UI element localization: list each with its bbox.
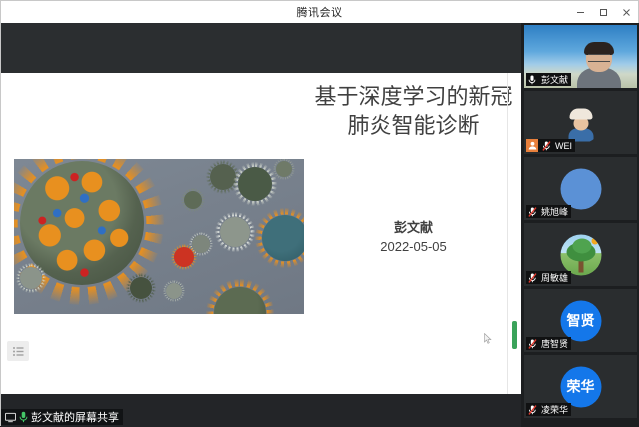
participant-name: 姚旭峰: [540, 205, 568, 218]
participant-name: 唐智贤: [540, 337, 568, 350]
window-title: 腾讯会议: [297, 4, 343, 20]
participant-namebar: 姚旭峰: [526, 205, 571, 218]
participant-name: WEI: [554, 141, 572, 151]
virus-particle: [210, 164, 236, 190]
slide-title-line-2: 肺炎智能诊断: [306, 112, 521, 141]
slideshow-menu-icon: [12, 346, 25, 357]
microphone-muted-icon: [526, 403, 538, 416]
presentation-slide[interactable]: 基于深度学习的新冠 肺炎智能诊断 彭文献 2022-05-05: [1, 73, 521, 394]
virus-particle: [130, 277, 152, 299]
microphone-muted-icon: [526, 271, 538, 284]
participant-namebar: 彭文献: [526, 73, 571, 86]
shared-screen-stage[interactable]: 基于深度学习的新冠 肺炎智能诊断 彭文献 2022-05-05: [1, 23, 521, 427]
virus-particle: [166, 283, 182, 299]
microphone-icon: [19, 411, 28, 423]
participant-tile-zhouminxiong[interactable]: 周敏雄: [524, 223, 637, 286]
window-controls: [569, 1, 638, 23]
avatar: [560, 234, 601, 275]
participant-name: 凌荣华: [540, 403, 568, 416]
participant-namebar: 周敏雄: [526, 271, 571, 284]
slide-title-line-1: 基于深度学习的新冠: [306, 83, 521, 112]
microphone-muted-icon: [526, 205, 538, 218]
virus-particle: [220, 217, 250, 247]
slide-author: 彭文献: [306, 217, 521, 236]
participant-tile-tangzhixian[interactable]: 智贤 唐智贤: [524, 289, 637, 352]
mouse-cursor: [484, 331, 492, 342]
participant-tile-wei[interactable]: WEI: [524, 91, 637, 154]
participant-rail[interactable]: 彭文献: [521, 23, 639, 427]
participant-namebar: 唐智贤: [526, 337, 571, 350]
monitor-icon: [5, 412, 16, 423]
participant-tile-lingronghua[interactable]: 荣华 凌荣华: [524, 355, 637, 418]
coronavirus-illustration: [14, 159, 304, 314]
avatar-initials: 智贤: [567, 311, 595, 331]
avatar: [560, 168, 601, 209]
person-silhouette: [577, 42, 621, 88]
host-badge-icon: [526, 139, 538, 152]
title-bar: 腾讯会议: [1, 1, 638, 23]
avatar: 智贤: [560, 300, 601, 341]
participant-namebar: 凌荣华: [526, 403, 571, 416]
participant-name: 彭文献: [540, 73, 568, 86]
screen-share-status-bar: 彭文献的屏幕共享: [1, 409, 123, 425]
slide-date: 2022-05-05: [306, 239, 521, 254]
virus-particle: [238, 167, 272, 201]
participant-tile-pengwenxian[interactable]: 彭文献: [524, 25, 637, 88]
virus-particle: [174, 247, 194, 267]
participant-tile-yaoxufeng[interactable]: 姚旭峰: [524, 157, 637, 220]
virus-particle: [262, 215, 304, 261]
slide-scroll-indicator[interactable]: [512, 321, 517, 349]
stage-top-letterbox: [1, 23, 521, 73]
slideshow-menu-button[interactable]: [7, 341, 29, 361]
tencent-meeting-window: 腾讯会议: [0, 0, 639, 426]
virus-particle: [214, 287, 266, 314]
close-button[interactable]: [615, 1, 638, 23]
maximize-button[interactable]: [592, 1, 615, 23]
slide-title: 基于深度学习的新冠 肺炎智能诊断: [306, 83, 521, 140]
microphone-muted-icon: [526, 337, 538, 350]
participant-name: 周敏雄: [540, 271, 568, 284]
virus-particle: [276, 161, 292, 177]
microphone-icon: [526, 73, 538, 86]
slide-right-edge: [507, 73, 508, 394]
avatar: 荣华: [560, 366, 601, 407]
avatar-initials: 荣华: [567, 377, 595, 397]
avatar: [560, 102, 601, 143]
share-status-label: 彭文献的屏幕共享: [31, 409, 119, 425]
virus-particle: [184, 191, 202, 209]
minimize-button[interactable]: [569, 1, 592, 23]
participant-namebar: WEI: [526, 139, 575, 152]
virus-particle: [20, 267, 42, 289]
microphone-muted-icon: [540, 139, 552, 152]
